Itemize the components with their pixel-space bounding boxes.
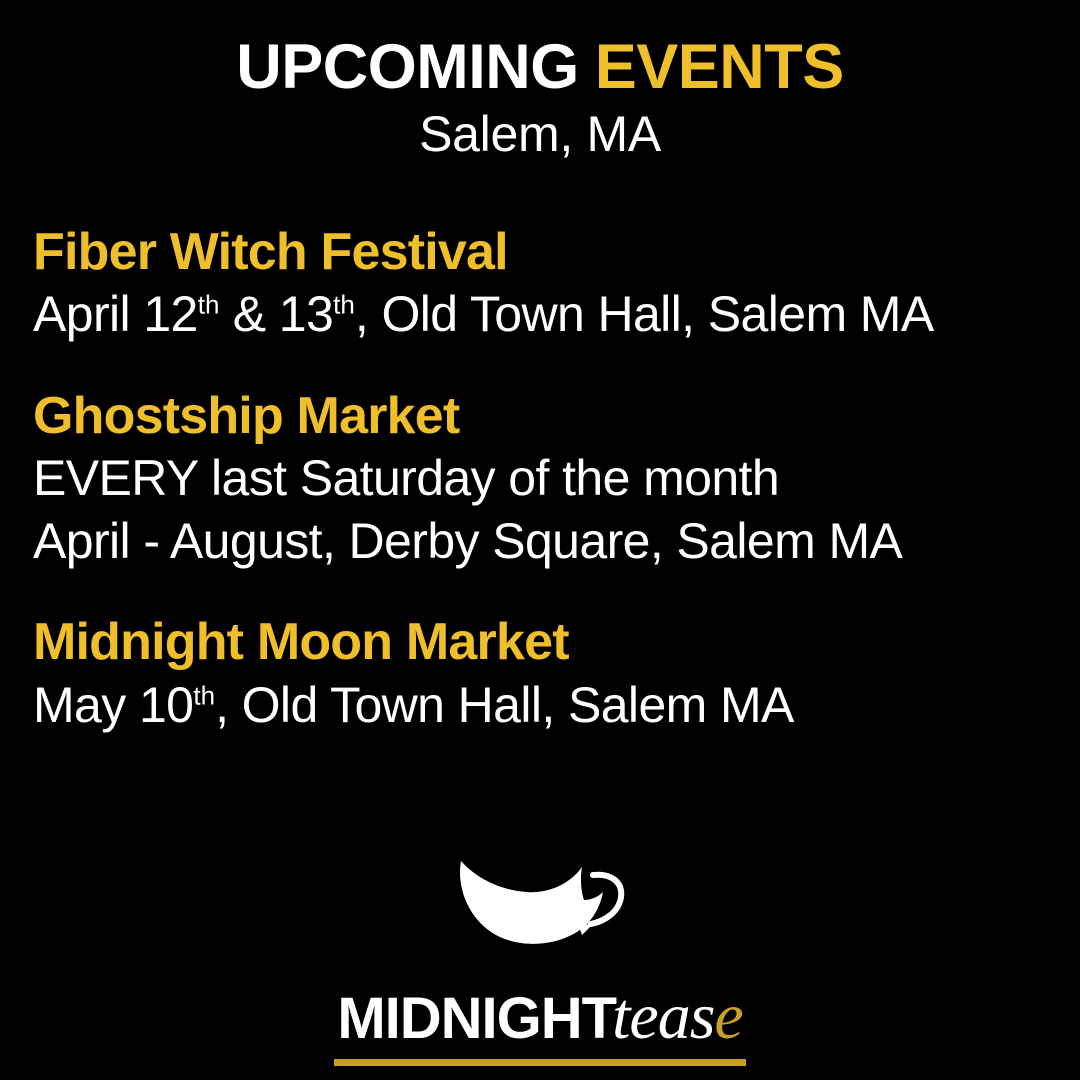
events-list: Fiber Witch Festival April 12th & 13th, … (33, 222, 1047, 736)
event-detail-line: May 10th, Old Town Hall, Salem MA (33, 674, 1047, 737)
crescent-moon-teacup-icon (452, 845, 628, 947)
detail-segment: & 13 (219, 286, 333, 342)
page-title: UPCOMINGEVENTS (0, 34, 1080, 101)
wordmark-script: tease (612, 980, 743, 1053)
detail-segment: April 12 (33, 286, 198, 342)
detail-segment: , Old Town Hall, Salem MA (215, 677, 794, 733)
page-title-primary: UPCOMING (236, 32, 579, 102)
brand-logo: MIDNIGHTtease (0, 845, 1080, 1066)
ordinal-suffix: th (198, 290, 220, 320)
event-title: Fiber Witch Festival (33, 222, 1047, 283)
wordmark-underline-rule (334, 1059, 746, 1066)
ordinal-suffix: th (333, 290, 355, 320)
page-subtitle: Salem, MA (0, 107, 1080, 162)
detail-segment: May 10 (33, 677, 193, 733)
detail-segment: , Old Town Hall, Salem MA (355, 286, 934, 342)
event-detail-line: April 12th & 13th, Old Town Hall, Salem … (33, 283, 1047, 346)
event-title: Midnight Moon Market (33, 612, 1047, 673)
poster-canvas: UPCOMINGEVENTS Salem, MA Fiber Witch Fes… (0, 0, 1080, 1080)
event-item: Fiber Witch Festival April 12th & 13th, … (33, 222, 1047, 346)
event-item: Ghostship Market EVERY last Saturday of … (33, 386, 1047, 572)
wordmark-script-main: teas (612, 980, 714, 1053)
header: UPCOMINGEVENTS Salem, MA (0, 34, 1080, 162)
event-title: Ghostship Market (33, 386, 1047, 447)
ordinal-suffix: th (193, 680, 215, 710)
event-detail-line: April - August, Derby Square, Salem MA (33, 510, 1047, 573)
event-item: Midnight Moon Market May 10th, Old Town … (33, 612, 1047, 736)
event-detail-line: EVERY last Saturday of the month (33, 447, 1047, 510)
wordmark-primary: MIDNIGHT (337, 986, 616, 1051)
page-title-accent: EVENTS (595, 32, 844, 102)
wordmark-script-accent: e (714, 980, 742, 1053)
wordmark: MIDNIGHTtease (334, 979, 746, 1066)
